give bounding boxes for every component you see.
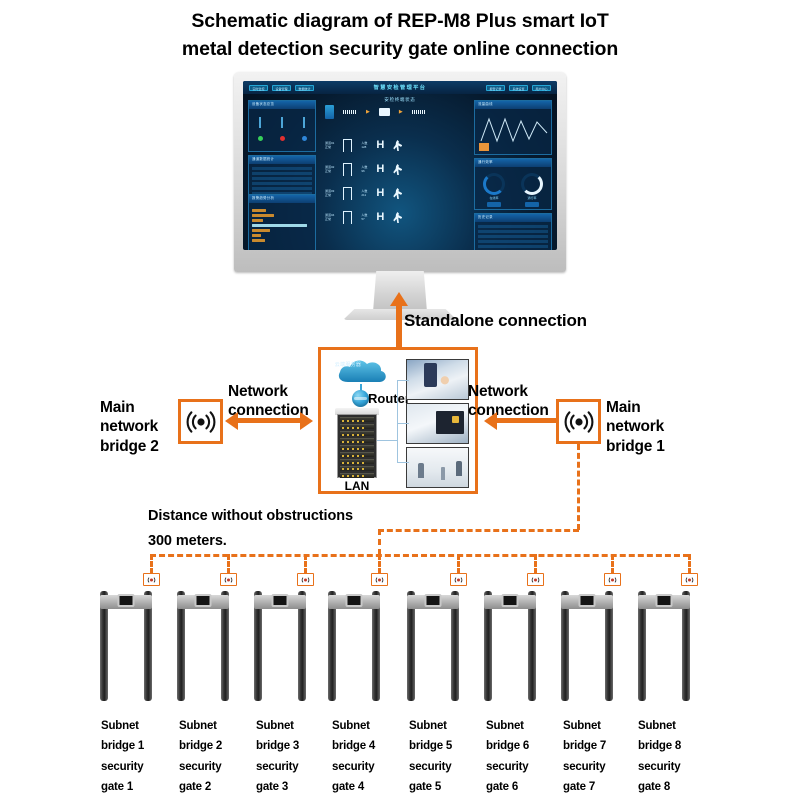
- panel-history-table: 历史记录: [474, 213, 552, 250]
- dashboard-chip-1[interactable]: 实时监控: [249, 85, 268, 92]
- label-line: Main: [606, 398, 692, 417]
- panel-alarm-bars: 报警趋势分析: [248, 194, 316, 250]
- bar: [252, 214, 274, 217]
- gauge-label: 通行率: [521, 196, 543, 200]
- gate-label-5: Subnet bridge 5 security gate 5: [409, 716, 481, 798]
- rack-unit: [340, 424, 374, 429]
- panel-header: 通道数据统计: [249, 156, 315, 164]
- label-line: bridge 5: [409, 736, 481, 756]
- standalone-arrow-shaft: [396, 305, 402, 350]
- dashboard-chip-4[interactable]: 报警记录: [486, 85, 505, 92]
- rack-unit: [340, 431, 374, 436]
- gate-label-4: Subnet bridge 4 security gate 4: [332, 716, 404, 798]
- panel-header: 报警趋势分析: [249, 195, 315, 203]
- label-line: Subnet: [256, 716, 328, 736]
- label-line: network: [606, 417, 692, 436]
- panel-header: 通行效率: [475, 159, 551, 167]
- label-line: gate 1: [101, 777, 173, 797]
- wifi-signal-icon: [564, 410, 594, 434]
- dashboard-chip-6[interactable]: 用户中心: [532, 85, 551, 92]
- label-line: Subnet: [179, 716, 251, 736]
- label-line: gate 5: [409, 777, 481, 797]
- label-line: security: [256, 757, 328, 777]
- panel-flow-line-chart: 流量曲线: [474, 100, 552, 155]
- gate-label-3: Subnet bridge 3 security gate 3: [256, 716, 328, 798]
- scanner-icon: [379, 108, 390, 116]
- title-line-1: Schematic diagram of REP-M8 Plus smart I…: [191, 10, 608, 32]
- label-line: bridge 8: [638, 736, 710, 756]
- gate-display-panel: [425, 594, 442, 607]
- bus-segment-upper: [378, 529, 579, 532]
- gate-row-text: 人数96: [361, 166, 367, 173]
- router-label: Router: [368, 391, 410, 406]
- gate-icon: [343, 211, 352, 224]
- dashboard-chip-3[interactable]: 数据统计: [295, 85, 314, 92]
- lan-link-photo-2: [397, 423, 409, 424]
- panel-header: 设备状态总览: [249, 101, 315, 109]
- label-line: bridge 1: [101, 736, 173, 756]
- dashboard-chip-2[interactable]: 设备管理: [272, 85, 291, 92]
- table-row: [478, 230, 548, 233]
- gate-display-panel: [656, 594, 673, 607]
- label-line: network: [100, 417, 176, 436]
- main-network-bridge-1[interactable]: [556, 399, 601, 444]
- security-gate-5[interactable]: [405, 583, 461, 701]
- label-line: bridge 4: [332, 736, 404, 756]
- arrow-icon: ▶: [366, 109, 370, 115]
- rack-unit: [340, 452, 374, 457]
- gate-row-text: 人数128: [361, 142, 367, 149]
- gate-label-6: Subnet bridge 6 security gate 6: [486, 716, 558, 798]
- rack-unit: [340, 459, 374, 464]
- table-row: [252, 177, 312, 180]
- page-title: Schematic diagram of REP-M8 Plus smart I…: [0, 8, 800, 63]
- table-row: [252, 172, 312, 175]
- label-line: bridge 3: [256, 736, 328, 756]
- label-line: security: [486, 757, 558, 777]
- table-row: [478, 245, 548, 248]
- label-line: gate 6: [486, 777, 558, 797]
- gate-icon: [343, 163, 352, 176]
- label-line: Subnet: [638, 716, 710, 736]
- label-line: security: [638, 757, 710, 777]
- label-line: Network: [228, 383, 309, 402]
- main-network-bridge-2-label: Main network bridge 2: [100, 398, 176, 456]
- bus-drop-gate-5: [457, 554, 460, 574]
- bar: [252, 229, 270, 232]
- bus-drop-from-bridge-1: [577, 444, 580, 530]
- desktop-monitor: 智慧安检管理平台 实时监控 设备管理 数据统计 报警记录 系统设置 用户中心 安…: [234, 72, 566, 282]
- chip-label: 报警记录: [487, 86, 504, 93]
- label-line: gate 2: [179, 777, 251, 797]
- dashboard-flow-row: ▶ ▶: [325, 105, 426, 119]
- person-icon: [393, 188, 402, 199]
- gate-label-1: Subnet bridge 1 security gate 1: [101, 716, 173, 798]
- bus-drop-gate-2: [227, 554, 230, 574]
- right-arrow-head-west: [484, 412, 497, 430]
- barcode-icon: [343, 110, 357, 114]
- bar: [252, 209, 266, 212]
- rack-unit: [340, 417, 374, 422]
- gate-row-text: 人数211: [361, 190, 367, 197]
- detector-icon: H: [376, 212, 384, 223]
- table-row: [478, 235, 548, 238]
- label-line: security: [101, 757, 173, 777]
- distance-line-1: Distance without obstructions: [148, 504, 353, 529]
- dashboard-gate-row: 通道02正常 人数96 H: [325, 163, 402, 176]
- table-row: [478, 240, 548, 243]
- gate-display-panel: [195, 594, 212, 607]
- label-line: bridge 2: [179, 736, 251, 756]
- label-line: gate 3: [256, 777, 328, 797]
- title-line-2: metal detection security gate online con…: [0, 36, 800, 64]
- left-arrow-head-east: [300, 412, 313, 430]
- gate-row-text: 通道02正常: [325, 166, 334, 173]
- gauge-online-rate: [483, 173, 505, 195]
- lan-link-vertical: [397, 380, 398, 462]
- bar: [252, 239, 265, 242]
- person-icon: [393, 164, 402, 175]
- detector-icon: H: [376, 188, 384, 199]
- rack-unit: [340, 445, 374, 450]
- gate-row-text: 通道01正常: [325, 142, 334, 149]
- table-row: [252, 167, 312, 170]
- bus-drop-gate-7: [611, 554, 614, 574]
- label-line: security: [409, 757, 481, 777]
- label-line: Subnet: [332, 716, 404, 736]
- dashboard-chip-5[interactable]: 系统设置: [509, 85, 528, 92]
- rack-unit: [340, 473, 374, 478]
- bar: [252, 219, 263, 222]
- bus-drop-gate-1: [150, 554, 153, 574]
- dashboard-title: 智慧安检管理平台: [374, 84, 427, 91]
- security-gate-1[interactable]: [98, 583, 154, 701]
- label-line: Subnet: [486, 716, 558, 736]
- cloud-label: 云端服务器: [321, 361, 375, 368]
- table-row: [252, 182, 312, 185]
- bus-drop-gate-8: [688, 554, 691, 574]
- router-icon: [352, 390, 369, 407]
- gate-display-panel: [118, 594, 135, 607]
- bar: [252, 224, 307, 227]
- dashboard-gate-row: 通道01正常 人数128 H: [325, 139, 402, 152]
- gate-row-text: 通道03正常: [325, 190, 334, 197]
- security-gate-6[interactable]: [482, 583, 538, 701]
- bus-drop-gate-6: [534, 554, 537, 574]
- gate-row-text: 人数57: [361, 214, 367, 221]
- standalone-arrow-head: [390, 292, 408, 306]
- gauge-label: 在线率: [483, 196, 505, 200]
- gate-icon: [343, 139, 352, 152]
- label-line: Network: [468, 383, 549, 402]
- distance-line-2: 300 meters.: [148, 529, 353, 554]
- label-line: bridge 1: [606, 437, 692, 456]
- dashboard-gate-row: 通道03正常 人数211 H: [325, 187, 402, 200]
- gate-display-panel: [579, 594, 596, 607]
- gate-label-8: Subnet bridge 8 security gate 8: [638, 716, 710, 798]
- lan-link-photo-3: [397, 462, 409, 463]
- gate-display-panel: [346, 594, 363, 607]
- table-row: [252, 187, 312, 190]
- chip-label: 数据统计: [296, 86, 313, 93]
- chip-label: 系统设置: [510, 86, 527, 93]
- panel-efficiency-gauges: 通行效率 在线率 通行率: [474, 158, 552, 210]
- label-line: Subnet: [563, 716, 635, 736]
- label-line: gate 4: [332, 777, 404, 797]
- gauge-pass-rate: [521, 173, 543, 195]
- rack-unit: [340, 466, 374, 471]
- monitor-bezel: 智慧安检管理平台 实时监控 设备管理 数据统计 报警记录 系统设置 用户中心 安…: [234, 72, 566, 272]
- bus-drop-gate-3: [304, 554, 307, 574]
- panel-device-status: 设备状态总览: [248, 100, 316, 152]
- lan-label: LAN: [331, 479, 383, 493]
- phone-laptop-photo: [406, 403, 469, 444]
- chip-label: 用户中心: [533, 86, 550, 93]
- dashboard-gate-row: 通道04正常 人数57 H: [325, 211, 402, 224]
- label-line: bridge 7: [563, 736, 635, 756]
- table-row: [478, 225, 548, 228]
- main-network-bridge-1-label: Main network bridge 1: [606, 398, 692, 456]
- right-arrow-shaft: [497, 418, 559, 423]
- security-gate-3[interactable]: [252, 583, 308, 701]
- network-connection-label-right: Network connection: [468, 383, 549, 421]
- cabinet-icon: [325, 105, 334, 119]
- label-line: gate 8: [638, 777, 710, 797]
- label-line: security: [563, 757, 635, 777]
- security-gate-7[interactable]: [559, 583, 615, 701]
- person-icon: [393, 212, 402, 223]
- label-line: bridge 6: [486, 736, 558, 756]
- distance-note: Distance without obstructions 300 meters…: [148, 504, 353, 555]
- gate-row-text: 通道04正常: [325, 214, 334, 221]
- label-line: gate 7: [563, 777, 635, 797]
- detector-icon: H: [376, 164, 384, 175]
- lan-link-rack: [377, 440, 397, 441]
- chip-label: 设备管理: [273, 86, 290, 93]
- detector-icon: H: [376, 140, 384, 151]
- panel-header: 历史记录: [475, 214, 551, 222]
- office-desk-photo: [406, 359, 469, 400]
- lan-network-box: 云端服务器 Router LAN: [318, 347, 478, 494]
- arrow-icon: ▶: [399, 109, 403, 115]
- gate-display-panel: [272, 594, 289, 607]
- label-line: bridge 2: [100, 437, 176, 456]
- bus-main-horizontal: [150, 554, 689, 557]
- label-line: Main: [100, 398, 176, 417]
- wifi-signal-icon: [186, 410, 216, 434]
- gate-display-panel: [502, 594, 519, 607]
- diagram-canvas: Schematic diagram of REP-M8 Plus smart I…: [0, 0, 800, 800]
- gauge-button[interactable]: [525, 202, 539, 207]
- barcode-icon: [412, 110, 426, 114]
- rack-unit: [340, 438, 374, 443]
- bus-riser-center: [378, 529, 381, 555]
- label-line: security: [179, 757, 251, 777]
- gauge-button[interactable]: [487, 202, 501, 207]
- gate-label-7: Subnet bridge 7 security gate 7: [563, 716, 635, 798]
- line-chart-svg: [479, 113, 549, 145]
- panel-header: 流量曲线: [475, 101, 551, 109]
- network-connection-label-left: Network connection: [228, 383, 309, 421]
- bar: [252, 234, 261, 237]
- gate-label-2: Subnet bridge 2 security gate 2: [179, 716, 251, 798]
- meeting-room-photo: [406, 447, 469, 488]
- server-rack: [337, 414, 377, 478]
- left-arrow-head-west: [225, 412, 238, 430]
- security-gate-2[interactable]: [175, 583, 231, 701]
- label-line: security: [332, 757, 404, 777]
- security-gate-8[interactable]: [636, 583, 692, 701]
- label-line: Subnet: [409, 716, 481, 736]
- left-arrow-shaft: [238, 418, 300, 423]
- chip-label: 实时监控: [250, 86, 267, 93]
- label-line: Subnet: [101, 716, 173, 736]
- main-network-bridge-2[interactable]: [178, 399, 223, 444]
- security-gate-4[interactable]: [326, 583, 382, 701]
- bus-drop-gate-4: [378, 554, 381, 574]
- standalone-connection-label: Standalone connection: [404, 311, 587, 331]
- lan-link-photo-1: [397, 380, 409, 381]
- dashboard-screen: 智慧安检管理平台 实时监控 设备管理 数据统计 报警记录 系统设置 用户中心 安…: [243, 81, 557, 250]
- gate-icon: [343, 187, 352, 200]
- person-icon: [393, 140, 402, 151]
